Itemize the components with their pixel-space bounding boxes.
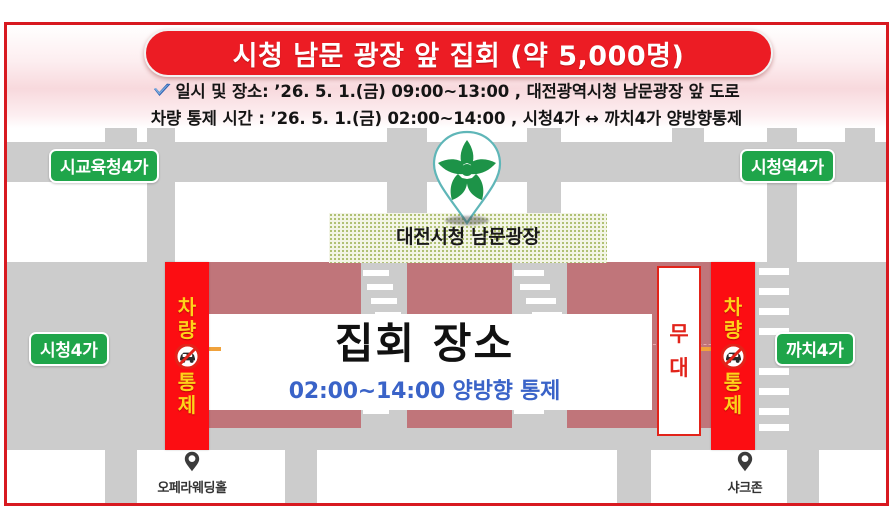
no-vehicle-icon	[721, 344, 746, 369]
map-pin-icon	[737, 457, 753, 476]
vehicle-control-banner-left: 차 량 통 제	[165, 262, 209, 450]
stage-box: 무 대	[657, 266, 701, 436]
poster-title: 시청 남문 광장 앞 집회 (약 5,000명)	[233, 34, 685, 73]
poi-label-shark-zone: 샤크존	[695, 477, 795, 496]
notice-line-2: 차량 통제 시간 : ’26. 5. 1.(금) 02:00~14:00 , 시…	[7, 106, 886, 131]
event-area-callout: 집회 장소 02:00~14:00 양방향 통제	[197, 314, 652, 410]
poi-label-opera-wedding-hall: 오페라웨딩홀	[137, 477, 247, 496]
poi-opera-wedding-hall: 오페라웨딩홀	[137, 451, 247, 496]
control-connector-left	[207, 347, 221, 351]
vehicle-control-banner-right: 차 량 통 제	[711, 262, 755, 450]
map-pin-icon	[184, 457, 200, 476]
control-char-mid-left: 량	[178, 319, 196, 342]
intersection-label-sicheong4ga: 시청4가	[29, 332, 109, 366]
flower-pin-icon	[428, 130, 506, 228]
control-char-bot2-left: 제	[178, 394, 196, 417]
intersection-label-kkachi4ga: 까치4가	[775, 332, 855, 366]
control-char-top-right: 차	[724, 296, 742, 319]
poi-shark-zone: 샤크존	[695, 451, 795, 496]
notice-info-block: 일시 및 장소: ’26. 5. 1.(금) 09:00~13:00 , 대전광…	[7, 79, 886, 131]
notice-poster: 시청 남문 광장 앞 집회 (약 5,000명) 일시 및 장소: ’26. 5…	[0, 0, 893, 510]
control-char-mid-right: 량	[724, 319, 742, 342]
event-area-title: 집회 장소	[335, 320, 514, 368]
stage-label-bottom: 대	[669, 351, 688, 385]
intersection-label-sicheongyeok4ga: 시청역4가	[740, 149, 835, 183]
notice-line-2-text: 차량 통제 시간 : ’26. 5. 1.(금) 02:00~14:00 , 시…	[151, 109, 742, 128]
control-char-bot1-right: 통	[724, 371, 742, 394]
check-mark-icon	[153, 81, 172, 106]
intersection-label-sigyoyukcheong4ga: 시교육청4가	[49, 149, 159, 183]
pin-shadow	[445, 216, 489, 225]
notice-line-1: 일시 및 장소: ’26. 5. 1.(금) 09:00~13:00 , 대전광…	[7, 79, 886, 106]
event-area-subtitle: 02:00~14:00 양방향 통제	[289, 373, 560, 405]
stage-label-top: 무	[669, 317, 688, 351]
poster-title-pill: 시청 남문 광장 앞 집회 (약 5,000명)	[144, 29, 773, 77]
control-char-bot2-right: 제	[724, 394, 742, 417]
control-char-top-left: 차	[178, 296, 196, 319]
notice-line-1-text: 일시 및 장소: ’26. 5. 1.(금) 09:00~13:00 , 대전광…	[175, 82, 739, 101]
control-char-bot1-left: 통	[178, 371, 196, 394]
no-vehicle-icon	[175, 344, 200, 369]
